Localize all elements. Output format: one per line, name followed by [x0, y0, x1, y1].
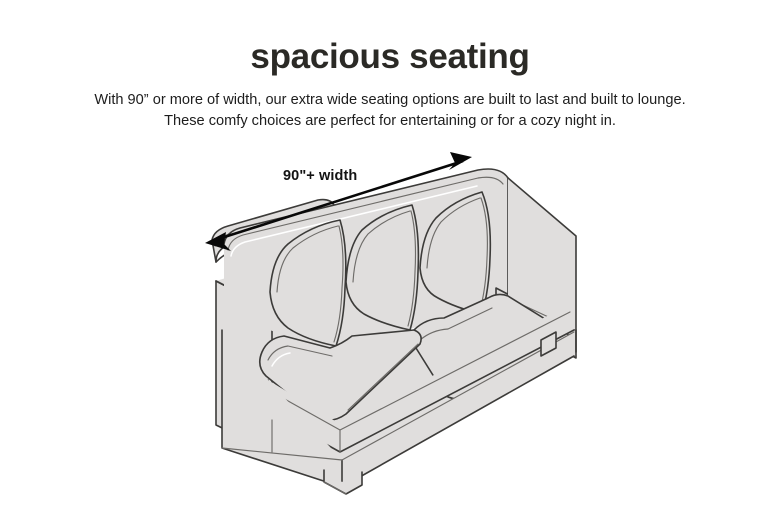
- marketing-illustration-page: spacious seating With 90” or more of wid…: [0, 0, 780, 520]
- sofa-group: [212, 169, 576, 494]
- sofa-illustration: [0, 0, 780, 520]
